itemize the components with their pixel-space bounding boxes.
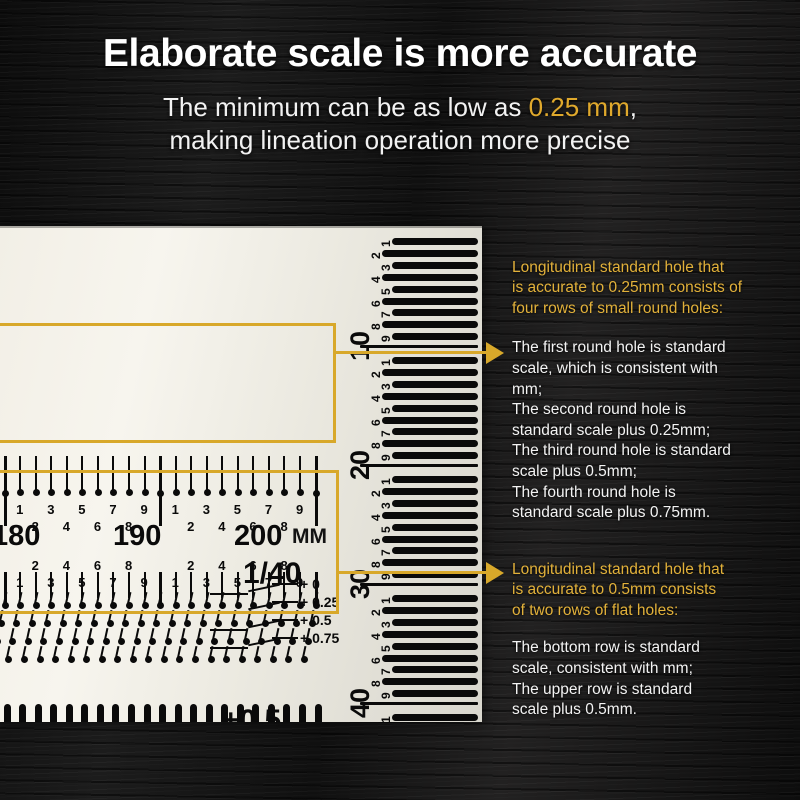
round-hole (235, 602, 242, 609)
flat-hole-upper (81, 704, 88, 722)
round-hole (5, 656, 12, 663)
vertical-tick-label: 3 (380, 616, 392, 628)
round-hole (270, 656, 277, 663)
round-hole (75, 620, 82, 627)
round-hole (83, 656, 90, 663)
offset-leader-line (210, 611, 248, 613)
annot1-line-4: standard scale plus 0.25mm; (512, 421, 800, 442)
vertical-tick-label: 6 (370, 295, 382, 307)
round-hole (215, 620, 222, 627)
round-hole (52, 656, 59, 663)
tick-bead (250, 489, 257, 496)
tick-bead (281, 489, 288, 496)
tick-label-odd: 3 (203, 503, 210, 516)
tick-label-even: 6 (94, 559, 101, 572)
vertical-tick (392, 619, 478, 626)
offset-label: + 0.5 (300, 613, 332, 627)
round-hole (44, 620, 51, 627)
annot2-gold-line-0: Longitudinal standard hole that (512, 560, 800, 580)
round-hole (239, 656, 246, 663)
flat-hole-upper (50, 704, 57, 722)
flat-hole-upper (4, 704, 11, 722)
vertical-tick (360, 702, 478, 705)
vertical-tick-label: 7 (380, 544, 392, 556)
flat-hole-upper (35, 704, 42, 722)
round-hole (0, 620, 5, 627)
tick-label-odd: 5 (78, 503, 85, 516)
major-label-180: 180 (0, 522, 40, 551)
vertical-tick (392, 381, 478, 388)
vertical-tick-label: 1 (380, 235, 392, 247)
subtitle-line-1: The minimum can be as low as 0.25 mm, (0, 91, 800, 124)
round-hole (40, 638, 47, 645)
round-hole (165, 638, 172, 645)
tick-label-odd: 9 (141, 503, 148, 516)
vertical-tick-label: 2 (370, 247, 382, 259)
vertical-tick-label: 1 (380, 711, 392, 722)
round-hole (157, 602, 164, 609)
vertical-tick (392, 524, 478, 531)
major-label-190: 190 (113, 522, 161, 551)
tick-bead (297, 489, 304, 496)
round-hole (91, 620, 98, 627)
annotation-025mm-gold: Longitudinal standard hole that is accur… (512, 258, 800, 319)
vertical-tick-label: 6 (370, 652, 382, 664)
tick-label-even: 8 (125, 559, 132, 572)
round-hole (204, 602, 211, 609)
vertical-tick (392, 714, 478, 721)
vertical-tick (382, 536, 478, 543)
round-hole (126, 602, 133, 609)
round-hole (60, 620, 67, 627)
tick-bead (219, 489, 226, 496)
vertical-tick-label: 4 (370, 628, 382, 640)
vertical-tick-label: 4 (370, 390, 382, 402)
round-hole (289, 638, 296, 645)
tick-bead (204, 489, 211, 496)
offset-label-plus-05: +0.5 (222, 706, 281, 722)
flat-hole-upper (128, 704, 135, 722)
tick-label-odd: 7 (109, 503, 116, 516)
tick-label-even: 2 (187, 520, 194, 533)
vertical-tick (382, 655, 478, 662)
vertical-tick-label: 7 (380, 425, 392, 437)
vertical-tick-label: 7 (380, 663, 392, 675)
subtitle-line-2: making lineation operation more precise (0, 124, 800, 157)
tick-bead (2, 490, 9, 497)
vertical-tick (392, 309, 478, 316)
tick-label-odd: 7 (265, 503, 272, 516)
annot2-gold-line-1: is accurate to 0.5mm consists (512, 580, 800, 600)
round-hole (173, 602, 180, 609)
vertical-tick (382, 417, 478, 424)
tick-bead (33, 489, 40, 496)
vertical-tick-label: 9 (380, 568, 392, 580)
annotation-025mm-body: The first round hole is standard scale, … (512, 338, 800, 523)
round-hole (2, 602, 9, 609)
vertical-tick (382, 274, 478, 281)
round-hole (118, 638, 125, 645)
tick-bead (235, 489, 242, 496)
flat-hole-upper (112, 704, 119, 722)
annot2-line-0: The bottom row is standard (512, 638, 800, 659)
annotation-05mm: Longitudinal standard hole that is accur… (512, 560, 800, 721)
annotation-025mm: Longitudinal standard hole that is accur… (512, 258, 800, 524)
round-hole (301, 656, 308, 663)
round-hole (95, 602, 102, 609)
offset-label: + 0.25 (300, 595, 339, 609)
callout-leader-line-1 (336, 351, 488, 354)
round-hole (29, 620, 36, 627)
vertical-tick-label: 4 (370, 509, 382, 521)
tick-label-odd: 5 (234, 503, 241, 516)
offset-label: + 0.75 (300, 631, 339, 645)
flat-hole-upper (159, 704, 166, 722)
vertical-tick-label: 7 (380, 306, 392, 318)
offset-leader-line (210, 629, 248, 631)
tick-label-odd: 9 (296, 503, 303, 516)
round-hole (13, 620, 20, 627)
vertical-major-label: 10 (347, 323, 377, 369)
vertical-tick-label: 3 (380, 497, 392, 509)
round-hole (169, 620, 176, 627)
callout-leader-line-2 (339, 571, 488, 574)
tick-label-even: 4 (63, 559, 70, 572)
offset-leader-line-2 (272, 637, 298, 639)
vertical-tick (382, 393, 478, 400)
flat-hole-upper (206, 704, 213, 722)
vertical-tick (392, 547, 478, 554)
tick-label-even: 6 (94, 520, 101, 533)
vertical-tick-label: 5 (380, 521, 392, 533)
vertical-tick (392, 476, 478, 483)
annot2-line-3: scale plus 0.5mm. (512, 700, 800, 721)
round-hole (21, 656, 28, 663)
flat-hole-upper (299, 704, 306, 722)
vertical-tick-label: 1 (380, 592, 392, 604)
vertical-tick (382, 250, 478, 257)
round-hole (33, 602, 40, 609)
round-hole (285, 656, 292, 663)
vertical-tick-label: 6 (370, 533, 382, 545)
vertical-tick (392, 357, 478, 364)
ruler-plate: 135791357924682468180190200MM24682468135… (0, 226, 482, 722)
headline-block: Elaborate scale is more accurate The min… (0, 34, 800, 156)
flat-hole-upper (144, 704, 151, 722)
round-hole (103, 638, 110, 645)
vertical-tick-label: 4 (370, 271, 382, 283)
round-hole (149, 638, 156, 645)
annot1-line-7: The fourth round hole is (512, 483, 800, 504)
round-hole (281, 602, 288, 609)
round-hole (37, 656, 44, 663)
flat-hole-upper (97, 704, 104, 722)
tick-bead (188, 489, 195, 496)
round-hole (122, 620, 129, 627)
annot1-line-5: The third round hole is standard (512, 441, 800, 462)
annotation-05mm-body: The bottom row is standard scale, consis… (512, 638, 800, 720)
offset-leader-line-2 (272, 619, 298, 621)
vertical-tick-label: 3 (380, 378, 392, 390)
vertical-tick (382, 298, 478, 305)
round-hole (192, 656, 199, 663)
vertical-scale: 1234567891234567891234567891234567891102… (353, 226, 482, 722)
round-hole (211, 638, 218, 645)
round-hole (196, 638, 203, 645)
tick-label-odd: 3 (47, 503, 54, 516)
vertical-tick-label: 6 (370, 414, 382, 426)
vertical-major-label: 20 (347, 442, 377, 488)
annot2-line-1: scale, consistent with mm; (512, 659, 800, 680)
offset-leader-line (210, 593, 248, 595)
round-hole (134, 638, 141, 645)
vertical-tick (392, 262, 478, 269)
tick-label-even: 2 (32, 559, 39, 572)
round-hole (68, 656, 75, 663)
vertical-major-label: 40 (347, 680, 377, 722)
round-hole (99, 656, 106, 663)
page-title: Elaborate scale is more accurate (0, 34, 800, 75)
round-hole (184, 620, 191, 627)
offset-leader-line-2 (272, 601, 298, 603)
flat-hole-upper (19, 704, 26, 722)
flat-hole-upper (66, 704, 73, 722)
tick-label-even: 4 (218, 520, 225, 533)
vertical-tick (392, 238, 478, 245)
tick-bead (157, 490, 164, 497)
round-hole (180, 638, 187, 645)
tick-bead (95, 489, 102, 496)
subtitle-highlight-value: 0.25 mm (529, 92, 630, 122)
major-label-200: 200 (234, 522, 282, 551)
subtitle-line-1-pre: The minimum can be as low as (163, 92, 529, 122)
round-hole (87, 638, 94, 645)
vertical-tick (392, 452, 478, 459)
round-hole (161, 656, 168, 663)
round-hole (79, 602, 86, 609)
tick-label-even: 4 (63, 520, 70, 533)
annot1-line-2: mm; (512, 380, 800, 401)
vertical-tick-label: 9 (380, 330, 392, 342)
vertical-tick (382, 321, 478, 328)
vertical-tick-label: 5 (380, 402, 392, 414)
vertical-tick-label: 1 (380, 473, 392, 485)
tick-bead (110, 489, 117, 496)
annot1-gold-line-2: four rows of small round holes: (512, 299, 800, 319)
round-hole (188, 602, 195, 609)
tick-label-even: 2 (187, 559, 194, 572)
offset-label: + 0 (300, 577, 320, 591)
callout-arrow-2-icon (486, 562, 504, 584)
annot1-line-0: The first round hole is standard (512, 338, 800, 359)
round-hole (208, 656, 215, 663)
vertical-tick (382, 512, 478, 519)
tick-bead (48, 489, 55, 496)
round-hole (219, 602, 226, 609)
tick-label-odd: 1 (172, 503, 179, 516)
annot1-gold-line-0: Longitudinal standard hole that (512, 258, 800, 278)
flat-hole-upper (315, 704, 322, 722)
vertical-tick (382, 488, 478, 495)
vertical-tick (392, 500, 478, 507)
annot1-line-1: scale, which is consistent with (512, 359, 800, 380)
vertical-tick (360, 345, 478, 348)
vertical-tick (360, 464, 478, 467)
unit-label-mm-top: MM (292, 526, 327, 547)
vertical-tick (382, 440, 478, 447)
tick-bead (173, 489, 180, 496)
tick-bead (17, 489, 24, 496)
round-hole (145, 656, 152, 663)
round-hole (200, 620, 207, 627)
round-hole (56, 638, 63, 645)
offset-leader-line-2 (272, 583, 298, 585)
vertical-tick (392, 690, 478, 697)
round-hole (64, 602, 71, 609)
round-hole (176, 656, 183, 663)
round-hole (110, 602, 117, 609)
round-hole (25, 638, 32, 645)
tick-label-even: 4 (218, 559, 225, 572)
vertical-tick-label: 9 (380, 687, 392, 699)
vertical-major-label: 30 (347, 561, 377, 607)
tick-bead (313, 490, 320, 497)
annotation-05mm-gold: Longitudinal standard hole that is accur… (512, 560, 800, 621)
flat-hole-upper (190, 704, 197, 722)
annot1-line-6: scale plus 0.5mm; (512, 462, 800, 483)
annot1-gold-line-1: is accurate to 0.25mm consists of (512, 278, 800, 298)
round-hole (72, 638, 79, 645)
round-hole (9, 638, 16, 645)
vertical-tick (382, 607, 478, 614)
vertical-tick (392, 428, 478, 435)
round-hole (114, 656, 121, 663)
vertical-tick (360, 583, 478, 586)
vertical-tick (382, 559, 478, 566)
vertical-tick (382, 678, 478, 685)
round-hole (48, 602, 55, 609)
tick-bead (266, 489, 273, 496)
vertical-tick (392, 286, 478, 293)
page-subtitle: The minimum can be as low as 0.25 mm, ma… (0, 91, 800, 157)
vertical-tick-label: 9 (380, 449, 392, 461)
round-hole (17, 602, 24, 609)
round-hole (142, 602, 149, 609)
subtitle-line-1-post: , (630, 92, 637, 122)
tick-bead (79, 489, 86, 496)
tick-label-odd: 1 (16, 503, 23, 516)
vertical-tick (392, 333, 478, 340)
vertical-tick-label: 1 (380, 354, 392, 366)
round-hole (254, 656, 261, 663)
vertical-tick-label: 5 (380, 283, 392, 295)
round-hole (107, 620, 114, 627)
vertical-tick (392, 666, 478, 673)
vertical-tick (392, 405, 478, 412)
annot1-line-8: standard scale plus 0.75mm. (512, 503, 800, 524)
vertical-tick (382, 631, 478, 638)
round-hole (227, 638, 234, 645)
vertical-tick (382, 369, 478, 376)
tick-bead (64, 489, 71, 496)
annot2-gold-line-2: of two rows of flat holes: (512, 601, 800, 621)
tick-bead (126, 489, 133, 496)
vertical-tick-label: 3 (380, 259, 392, 271)
flat-hole-upper (283, 704, 290, 722)
round-hole (153, 620, 160, 627)
round-hole (223, 656, 230, 663)
annot1-line-3: The second round hole is (512, 400, 800, 421)
vertical-tick (392, 643, 478, 650)
vertical-tick (392, 595, 478, 602)
round-hole (130, 656, 137, 663)
round-hole (231, 620, 238, 627)
round-hole (0, 638, 1, 645)
offset-leader-line (210, 647, 248, 649)
round-hole (138, 620, 145, 627)
vertical-tick-label: 5 (380, 640, 392, 652)
tick-bead (142, 489, 149, 496)
flat-hole-upper (175, 704, 182, 722)
annot2-line-2: The upper row is standard (512, 680, 800, 701)
callout-arrow-1-icon (486, 342, 504, 364)
